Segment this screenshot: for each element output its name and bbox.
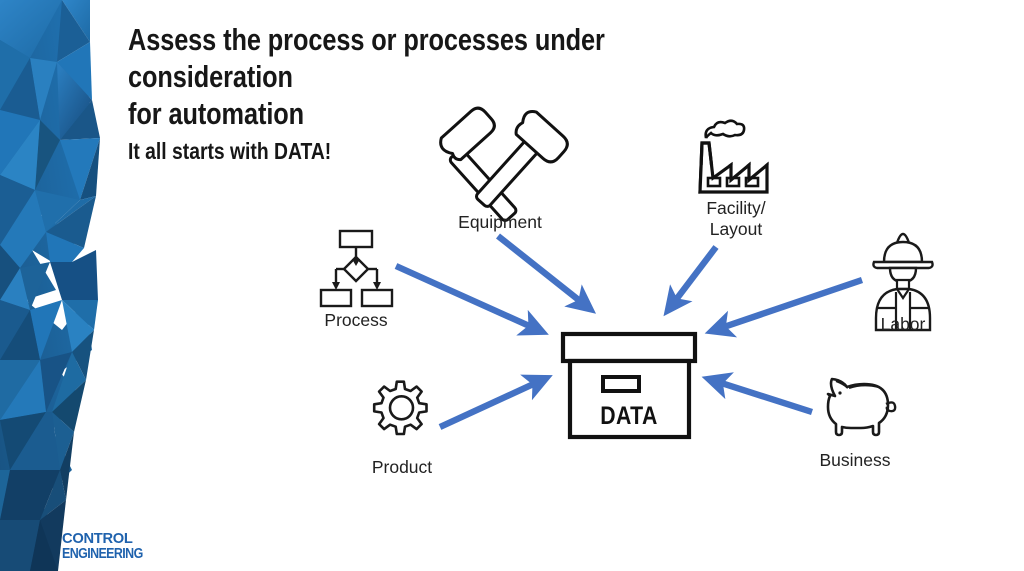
control-engineering-logo: CONTROL ENGINEERING [62, 528, 178, 562]
label-product: Product [342, 457, 462, 478]
data-box-handle-icon [603, 377, 639, 391]
label-business: Business [795, 450, 915, 471]
arrow-equipment-to-data [498, 236, 585, 305]
arrow-business-to-data [715, 381, 812, 412]
flowchart-icon [321, 231, 392, 306]
arrow-labor-to-data [718, 280, 862, 329]
crossed-hammers-icon [435, 105, 572, 223]
data-box-label: DATA [600, 401, 658, 429]
data-convergence-diagram: DATA Process [0, 0, 1024, 571]
slide-canvas: Assess the process or processes under co… [0, 0, 1024, 571]
gear-icon [374, 382, 426, 434]
label-facility-layout: Facility/ Layout [673, 198, 799, 239]
factory-icon [700, 121, 770, 199]
arrow-facility-to-data [672, 247, 716, 305]
piggy-bank-icon [828, 379, 895, 435]
label-process: Process [296, 310, 416, 331]
label-labor: Labor [843, 314, 963, 335]
logo-line-2: ENGINEERING [62, 545, 143, 561]
arrow-process-to-data [396, 266, 536, 329]
data-box-lid [563, 334, 695, 361]
arrow-product-to-data [440, 381, 540, 427]
label-equipment: Equipment [440, 212, 560, 233]
